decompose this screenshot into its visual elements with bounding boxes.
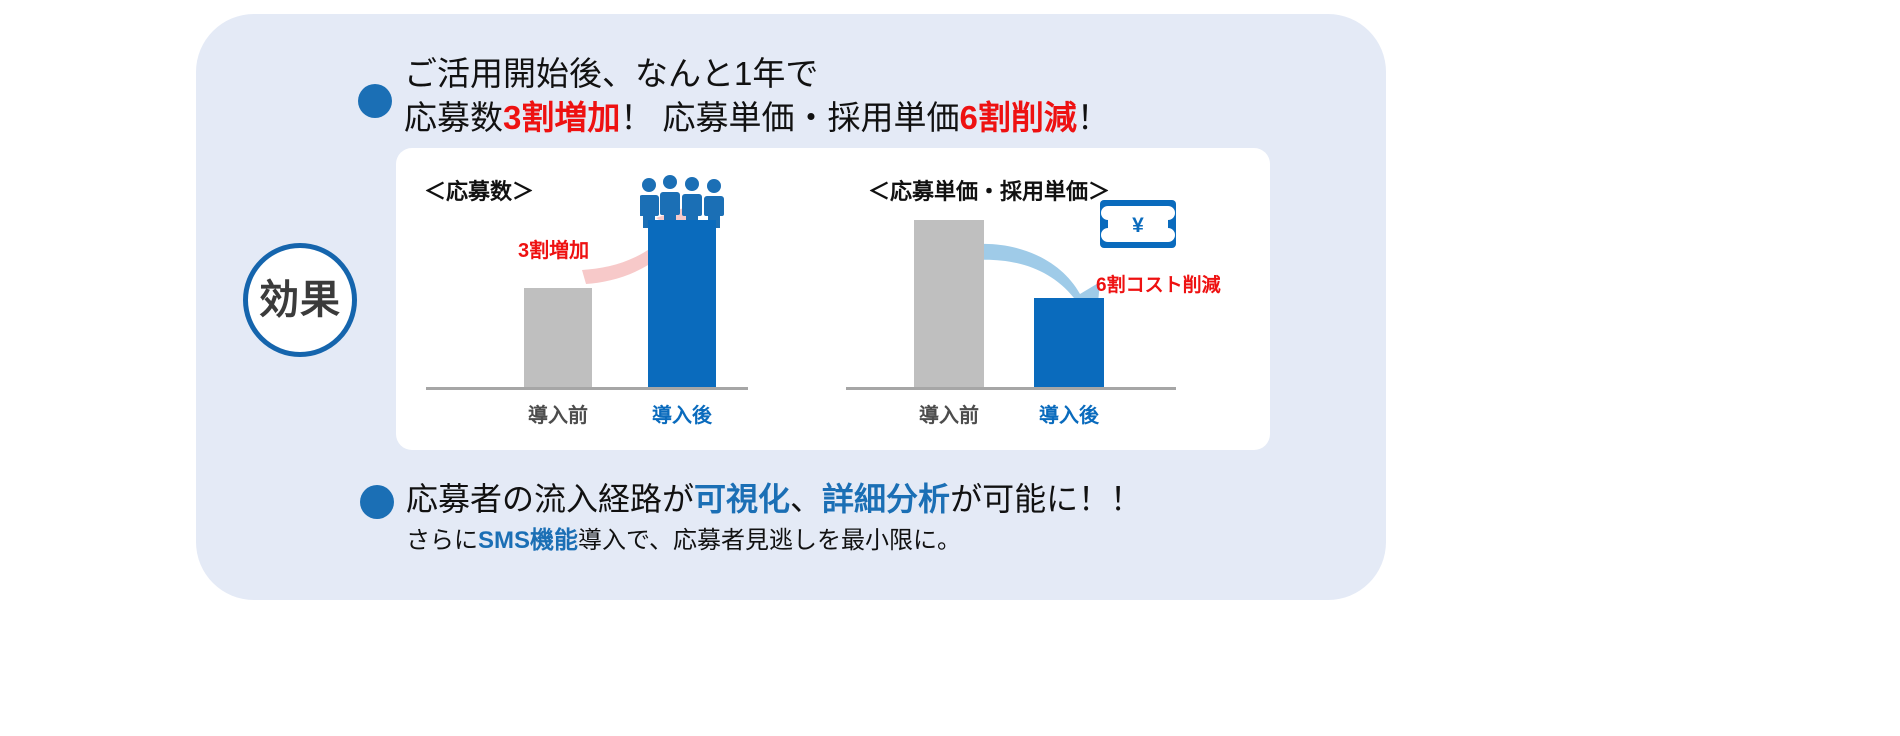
chart-cost-per-hire: ＜応募単価・採用単価＞ ¥ 6割コスト削減 導入前 導入後 <box>826 148 1270 450</box>
effect-badge-label: 効果 <box>259 280 341 320</box>
bottom-sub-part-a: さらに <box>406 527 478 554</box>
bottom-subtext: さらにSMS機能導入で、応募者見逃しを最小限に。 <box>406 524 961 558</box>
effect-badge: 効果 <box>243 243 357 357</box>
bottom-main-part-c: が可能に！！ <box>950 481 1142 517</box>
chart-left-label-before: 導入前 <box>504 399 612 428</box>
bar-left-after <box>648 220 716 388</box>
bar-right-after <box>1034 298 1104 388</box>
headline-line2-part-b: ！ 応募単価・採用単価 <box>620 99 959 136</box>
svg-text:¥: ¥ <box>1132 214 1144 237</box>
bottom-main-part-a: 応募者の流入経路が <box>406 481 694 517</box>
infographic-root: 効果 ご活用開始後、なんと1年で 応募数3割増加！ 応募単価・採用単価6割削減！… <box>0 0 1900 736</box>
chart-right-annotation: 6割コスト削減 <box>1096 270 1221 297</box>
chart-right-axis <box>846 387 1176 390</box>
bar-left-before <box>524 288 592 388</box>
bullet-dot-icon-bottom <box>360 485 394 519</box>
charts-card: ＜応募数＞ 3割増加 <box>396 148 1270 450</box>
chart-left-axis <box>426 387 748 390</box>
headline-line2-part-a: 応募数 <box>404 99 503 136</box>
chart-right-label-before: 導入前 <box>895 399 1003 428</box>
bar-right-before <box>914 220 984 388</box>
chart-left-label-after: 導入後 <box>628 399 736 428</box>
chart-right-label-after: 導入後 <box>1015 399 1123 428</box>
chart-left-title: ＜応募数＞ <box>424 174 534 206</box>
headline: ご活用開始後、なんと1年で 応募数3割増加！ 応募単価・採用単価6割削減！ <box>404 52 1164 140</box>
bullet-dot-icon-top <box>358 84 392 118</box>
chart-right-title: ＜応募単価・採用単価＞ <box>868 174 1110 206</box>
bottom-highlight-analysis: 詳細分析 <box>822 481 950 517</box>
headline-line-1: ご活用開始後、なんと1年で <box>404 52 1164 96</box>
bottom-main-part-b: 、 <box>790 481 822 517</box>
bottom-highlight-sms: SMS機能 <box>478 527 578 554</box>
headline-highlight-reduce: 6割削減 <box>960 99 1077 136</box>
bottom-highlight-visualize: 可視化 <box>694 481 790 517</box>
bottom-headline: 応募者の流入経路が可視化、詳細分析が可能に！！ <box>406 478 1142 520</box>
yen-coupon-icon: ¥ <box>1100 200 1176 248</box>
bottom-sub-part-b: 導入で、応募者見逃しを最小限に。 <box>578 527 961 554</box>
chart-left-annotation: 3割増加 <box>518 234 589 263</box>
headline-highlight-increase: 3割増加 <box>503 99 620 136</box>
headline-line2-part-c: ！ <box>1077 99 1110 136</box>
chart-applications: ＜応募数＞ 3割増加 <box>396 148 816 450</box>
headline-line-2: 応募数3割増加！ 応募単価・採用単価6割削減！ <box>404 96 1164 140</box>
